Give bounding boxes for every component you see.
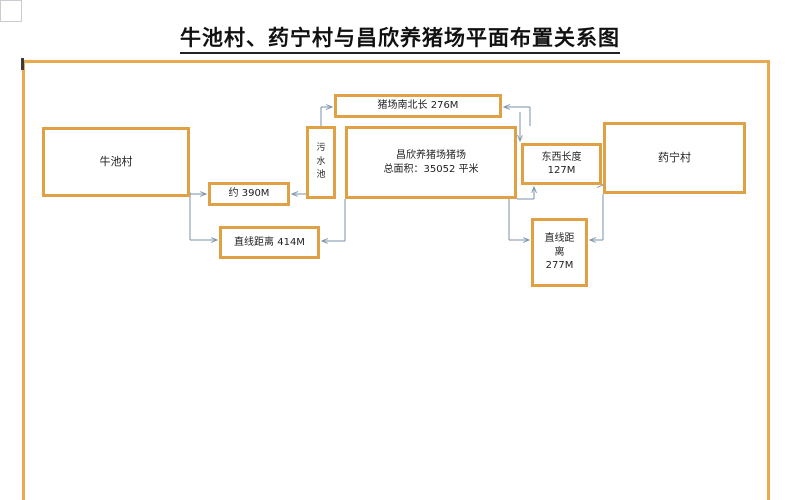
box-distance-414-label: 直线距离 414M <box>234 236 305 250</box>
page-title: 牛池村、药宁村与昌欣养猪场平面布置关系图 <box>0 22 800 52</box>
box-distance-277-line2: 离 <box>555 246 565 260</box>
box-distance-390-label: 约 390M <box>229 187 270 201</box>
box-distance-277-value: 277M <box>546 259 574 273</box>
document-page: 牛池村、药宁村与昌欣养猪场平面布置关系图 <box>0 0 800 482</box>
box-distance-390[interactable]: 约 390M <box>208 182 290 206</box>
crop-mark-top-right <box>0 0 22 22</box>
box-pig-farm[interactable]: 昌欣养猪场猪场 总面积：35052 平米 <box>345 126 517 199</box>
box-north-south-length-label: 猪场南北长 276M <box>378 99 459 113</box>
box-sewage-pond-char-3: 池 <box>316 169 325 183</box>
crop-mark-top-left <box>0 0 22 22</box>
box-distance-277-line1: 直线距 <box>545 232 575 246</box>
crop-mark-bottom-left <box>0 0 22 22</box>
box-pig-farm-area: 总面积：35052 平米 <box>384 163 479 177</box>
box-east-west-length-label: 东西长度 <box>542 151 582 165</box>
box-sewage-pond[interactable]: 污 水 池 <box>306 126 336 199</box>
box-north-south-length[interactable]: 猪场南北长 276M <box>334 94 502 118</box>
frame-tick-mark <box>21 58 24 70</box>
box-pig-farm-name: 昌欣养猪场猪场 <box>396 149 466 163</box>
box-niuchi-village[interactable]: 牛池村 <box>42 127 190 197</box>
box-east-west-length-value: 127M <box>548 164 576 178</box>
crop-mark-bottom-right <box>0 0 22 22</box>
box-yaoning-village[interactable]: 药宁村 <box>603 122 746 194</box>
box-niuchi-village-label: 牛池村 <box>100 155 133 170</box>
box-east-west-length[interactable]: 东西长度 127M <box>521 143 602 185</box>
box-distance-277[interactable]: 直线距 离 277M <box>531 218 588 287</box>
box-distance-414[interactable]: 直线距离 414M <box>219 226 320 259</box>
page-title-text: 牛池村、药宁村与昌欣养猪场平面布置关系图 <box>180 26 620 54</box>
box-sewage-pond-char-1: 污 <box>316 142 325 156</box>
box-sewage-pond-char-2: 水 <box>316 156 325 170</box>
box-yaoning-village-label: 药宁村 <box>658 151 691 166</box>
